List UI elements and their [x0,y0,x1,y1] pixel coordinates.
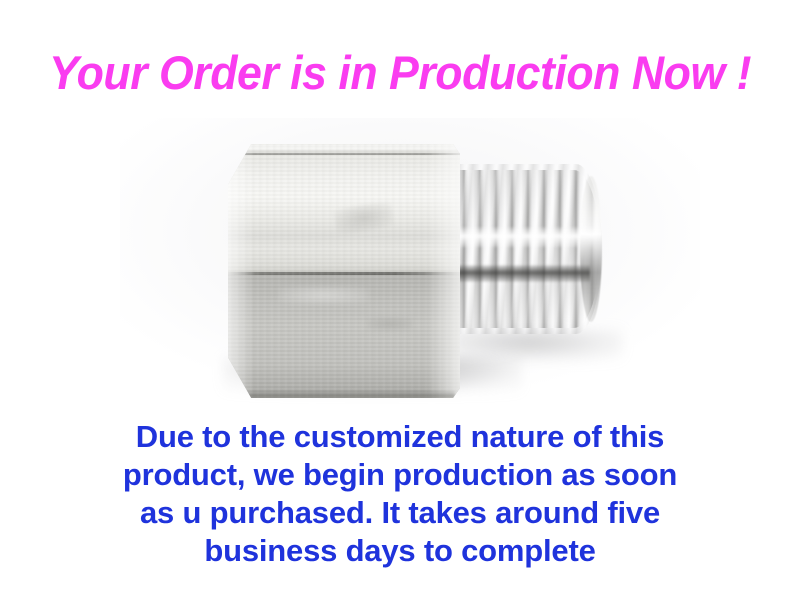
notice-banner: Your Order is in Production Now ! [0,0,800,600]
cast-shadow-thread [452,330,622,360]
hex-body [228,144,460,398]
surface-scuff-lower [367,317,413,331]
surface-highlight [279,286,369,304]
shank-end-face [580,176,602,322]
hex-left-chamfer-shading [228,144,254,398]
notice-body-line: as u purchased. It takes around five [90,494,710,532]
notice-body-line: product, we begin production as soon [90,456,710,494]
hex-right-junction-shading [426,144,460,398]
hex-bottom-shading [233,390,456,398]
threaded-shank [452,170,600,328]
notice-body: Due to the customized nature of this pro… [90,418,710,570]
notice-body-line: business days to complete [90,532,710,570]
page-title: Your Order is in Production Now ! [20,48,780,97]
thread-specular-highlight [452,227,596,248]
notice-body-line: Due to the customized nature of this [90,418,710,456]
thread-shadow-band [454,265,590,282]
product-photo [0,118,800,408]
hex-body-shape [228,144,460,398]
